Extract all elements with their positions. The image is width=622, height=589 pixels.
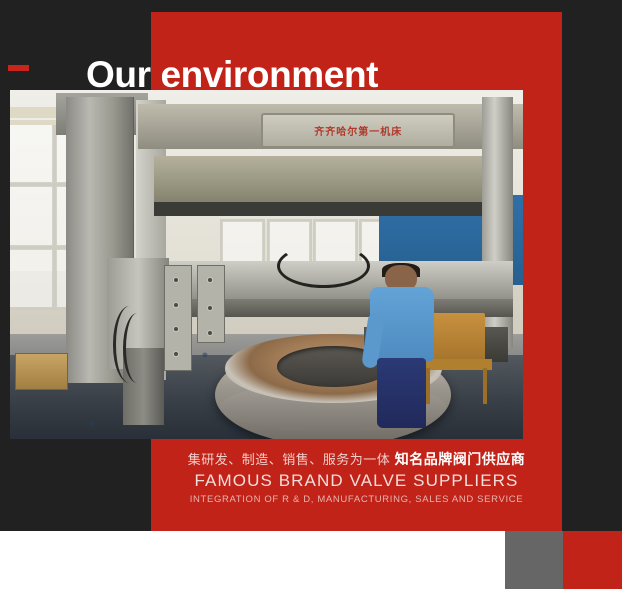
caption-chinese-line: 集研发、制造、销售、服务为一体 知名品牌阀门供应商 bbox=[151, 450, 562, 470]
caption-cn-light: 集研发、制造、销售、服务为一体 bbox=[188, 453, 391, 468]
worker-trousers bbox=[377, 358, 426, 429]
caption-english-main: FAMOUS BRAND VALVE SUPPLIERS bbox=[151, 470, 562, 491]
machine-bolt bbox=[208, 331, 212, 335]
machine-nameplate: 齐齐哈尔第一机床 bbox=[261, 113, 455, 148]
window-pane bbox=[10, 121, 55, 184]
machine-bolt bbox=[174, 352, 178, 356]
chair-back bbox=[428, 313, 485, 360]
window-pane bbox=[10, 184, 55, 247]
dark-right-column bbox=[562, 12, 622, 531]
coolant-hose bbox=[277, 244, 370, 288]
decor-red-block bbox=[563, 531, 622, 589]
environment-photo: 齐齐哈尔第一机床 bbox=[10, 90, 523, 439]
wooden-crate bbox=[15, 353, 68, 390]
caption-english-sub: INTEGRATION OF R & D, MANUFACTURING, SAL… bbox=[151, 491, 562, 508]
red-accent-dash bbox=[8, 65, 29, 71]
machine-bolt bbox=[174, 303, 178, 307]
caption-cn-bold: 知名品牌阀门供应商 bbox=[395, 452, 526, 468]
machine-lower-beam bbox=[154, 156, 513, 201]
caption-block: 集研发、制造、销售、服务为一体 知名品牌阀门供应商 FAMOUS BRAND V… bbox=[151, 450, 562, 508]
factory-worker bbox=[369, 265, 436, 426]
machine-beam-shadow bbox=[154, 202, 513, 216]
page-root: Our environment bbox=[0, 0, 622, 589]
machine-bolt bbox=[208, 306, 212, 310]
machine-cable bbox=[123, 313, 152, 383]
photo-scene: 齐齐哈尔第一机床 bbox=[10, 90, 523, 439]
chair-leg bbox=[483, 368, 487, 404]
decor-gray-block bbox=[505, 531, 563, 589]
window-pane bbox=[10, 247, 55, 310]
machine-nameplate-text: 齐齐哈尔第一机床 bbox=[314, 123, 402, 138]
